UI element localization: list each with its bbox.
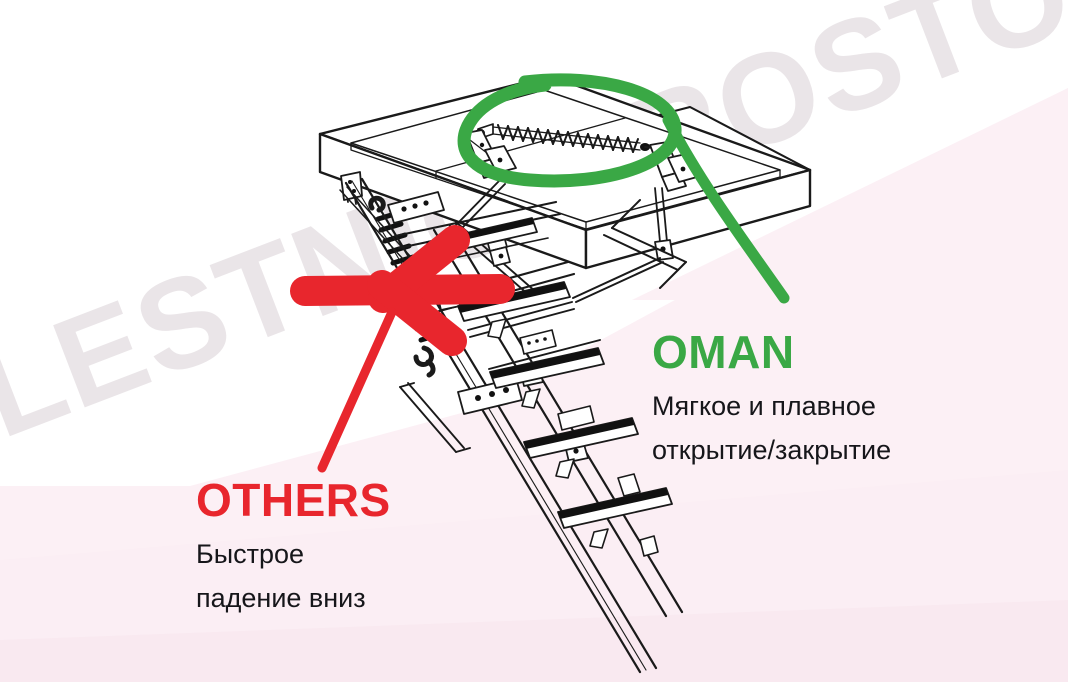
pivot-bracket-b bbox=[437, 289, 460, 310]
callout-oman: OMAN Мягкое и плавное открытие/закрытие bbox=[652, 326, 1012, 472]
ladder-step-5 bbox=[558, 488, 672, 528]
oman-title: OMAN bbox=[652, 326, 1012, 378]
others-subtitle-line1: Быстрое bbox=[196, 532, 526, 576]
callout-others: OTHERS Быстрое падение вниз bbox=[196, 474, 526, 620]
others-subtitle-line2: падение вниз bbox=[196, 576, 526, 620]
oman-subtitle-line2: открытие/закрытие bbox=[652, 428, 1012, 472]
hinge-plate-small bbox=[520, 330, 556, 354]
oman-subtitle-line1: Мягкое и плавное bbox=[652, 384, 1012, 428]
others-title: OTHERS bbox=[196, 474, 526, 526]
poster-canvas: LESTNIC-PROSTO.RU bbox=[0, 0, 1068, 682]
hinge-plate-small-2 bbox=[558, 406, 594, 430]
